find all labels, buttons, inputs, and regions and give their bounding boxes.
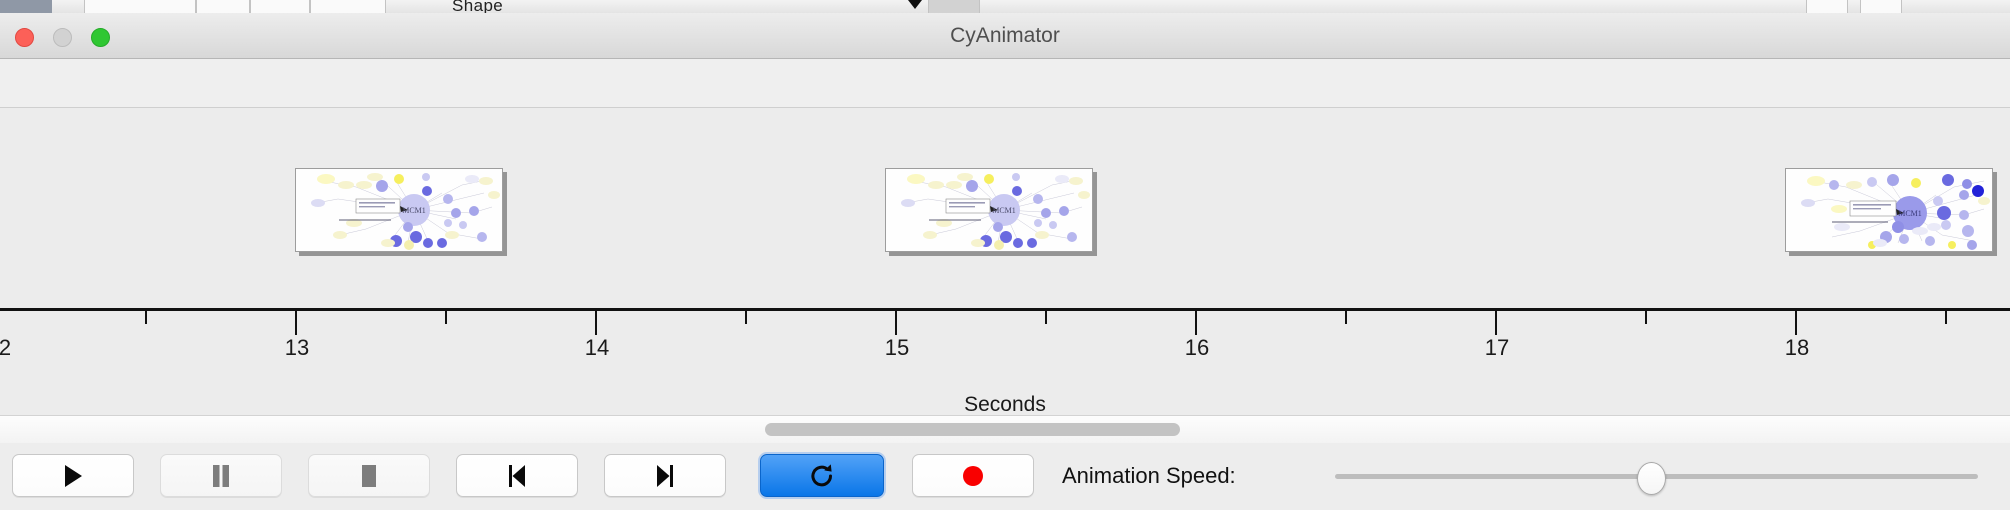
svg-text:MCM1: MCM1 xyxy=(402,206,426,215)
loop-icon xyxy=(809,463,835,489)
axis-tick-label: 16 xyxy=(1185,335,1209,361)
stop-button[interactable] xyxy=(308,454,430,497)
frame-thumbnail-2[interactable]: MCM1 xyxy=(885,168,1093,252)
axis-tick-major xyxy=(895,311,897,335)
background-window-chip xyxy=(1806,0,1848,13)
axis-tick-label: 17 xyxy=(1485,335,1509,361)
skip-forward-icon xyxy=(654,464,676,488)
play-icon xyxy=(63,464,83,488)
axis-tick-minor xyxy=(145,311,147,324)
network-preview: MCM1 xyxy=(1786,169,1992,251)
background-window-label: Shape xyxy=(452,0,503,14)
axis-tick-minor xyxy=(445,311,447,324)
axis-tick-minor xyxy=(1945,311,1947,324)
axis-tick-minor xyxy=(745,311,747,324)
record-button[interactable] xyxy=(912,454,1034,497)
title-bar[interactable]: CyAnimator xyxy=(0,13,2010,59)
axis-tick-label: 2 xyxy=(0,335,11,361)
timeline-horizontal-scrollbar[interactable] xyxy=(0,415,2010,444)
axis-tick-label: 14 xyxy=(585,335,609,361)
frame-thumbnail-3[interactable]: MCM1 xyxy=(1785,168,1993,252)
network-preview: MCM1 xyxy=(296,169,502,251)
axis-tick-minor xyxy=(1345,311,1347,324)
background-window-chip xyxy=(1860,0,1902,13)
background-window-chip xyxy=(196,0,250,13)
background-window-chip xyxy=(310,0,386,13)
cyanimator-window: Shape CyAnimator ✚ Clear xyxy=(0,0,2010,510)
skip-back-icon xyxy=(506,464,528,488)
background-window-chip xyxy=(84,0,196,13)
axis-title: Seconds xyxy=(0,393,2010,415)
background-window-chip xyxy=(928,0,980,13)
svg-text:MCM1: MCM1 xyxy=(1898,209,1922,218)
pause-icon xyxy=(211,464,231,488)
background-window-strip: Shape xyxy=(0,0,2010,14)
timeline-axis-line xyxy=(0,308,2010,311)
previous-button[interactable] xyxy=(456,454,578,497)
axis-tick-major xyxy=(1495,311,1497,335)
play-button[interactable] xyxy=(12,454,134,497)
timeline-panel[interactable]: MCM1 xyxy=(0,108,2010,415)
axis-tick-minor xyxy=(1645,311,1647,324)
next-button[interactable] xyxy=(604,454,726,497)
axis-tick-major xyxy=(595,311,597,335)
axis-tick-major xyxy=(1195,311,1197,335)
stop-icon xyxy=(359,464,379,488)
toolbar: ✚ Clear All Frames xyxy=(0,59,2010,108)
axis-tick-major xyxy=(1795,311,1797,335)
animation-speed-label: Animation Speed: xyxy=(1062,463,1236,489)
loop-button[interactable] xyxy=(760,454,884,497)
pause-button[interactable] xyxy=(160,454,282,497)
svg-text:MCM1: MCM1 xyxy=(992,206,1016,215)
record-icon xyxy=(962,465,984,487)
axis-tick-label: 13 xyxy=(285,335,309,361)
axis-tick-label: 15 xyxy=(885,335,909,361)
transport-bar: Animation Speed: xyxy=(0,443,2010,510)
network-preview: MCM1 xyxy=(886,169,1092,251)
background-window-chip xyxy=(250,0,310,13)
window-title: CyAnimator xyxy=(0,24,2010,48)
background-cursor-icon xyxy=(908,0,922,9)
axis-tick-label: 18 xyxy=(1785,335,1809,361)
animation-speed-slider-knob[interactable] xyxy=(1637,462,1666,495)
background-window-chip xyxy=(0,0,52,13)
axis-tick-major xyxy=(295,311,297,335)
scrollbar-thumb[interactable] xyxy=(765,423,1180,436)
frame-thumbnail-1[interactable]: MCM1 xyxy=(295,168,503,252)
axis-tick-minor xyxy=(1045,311,1047,324)
